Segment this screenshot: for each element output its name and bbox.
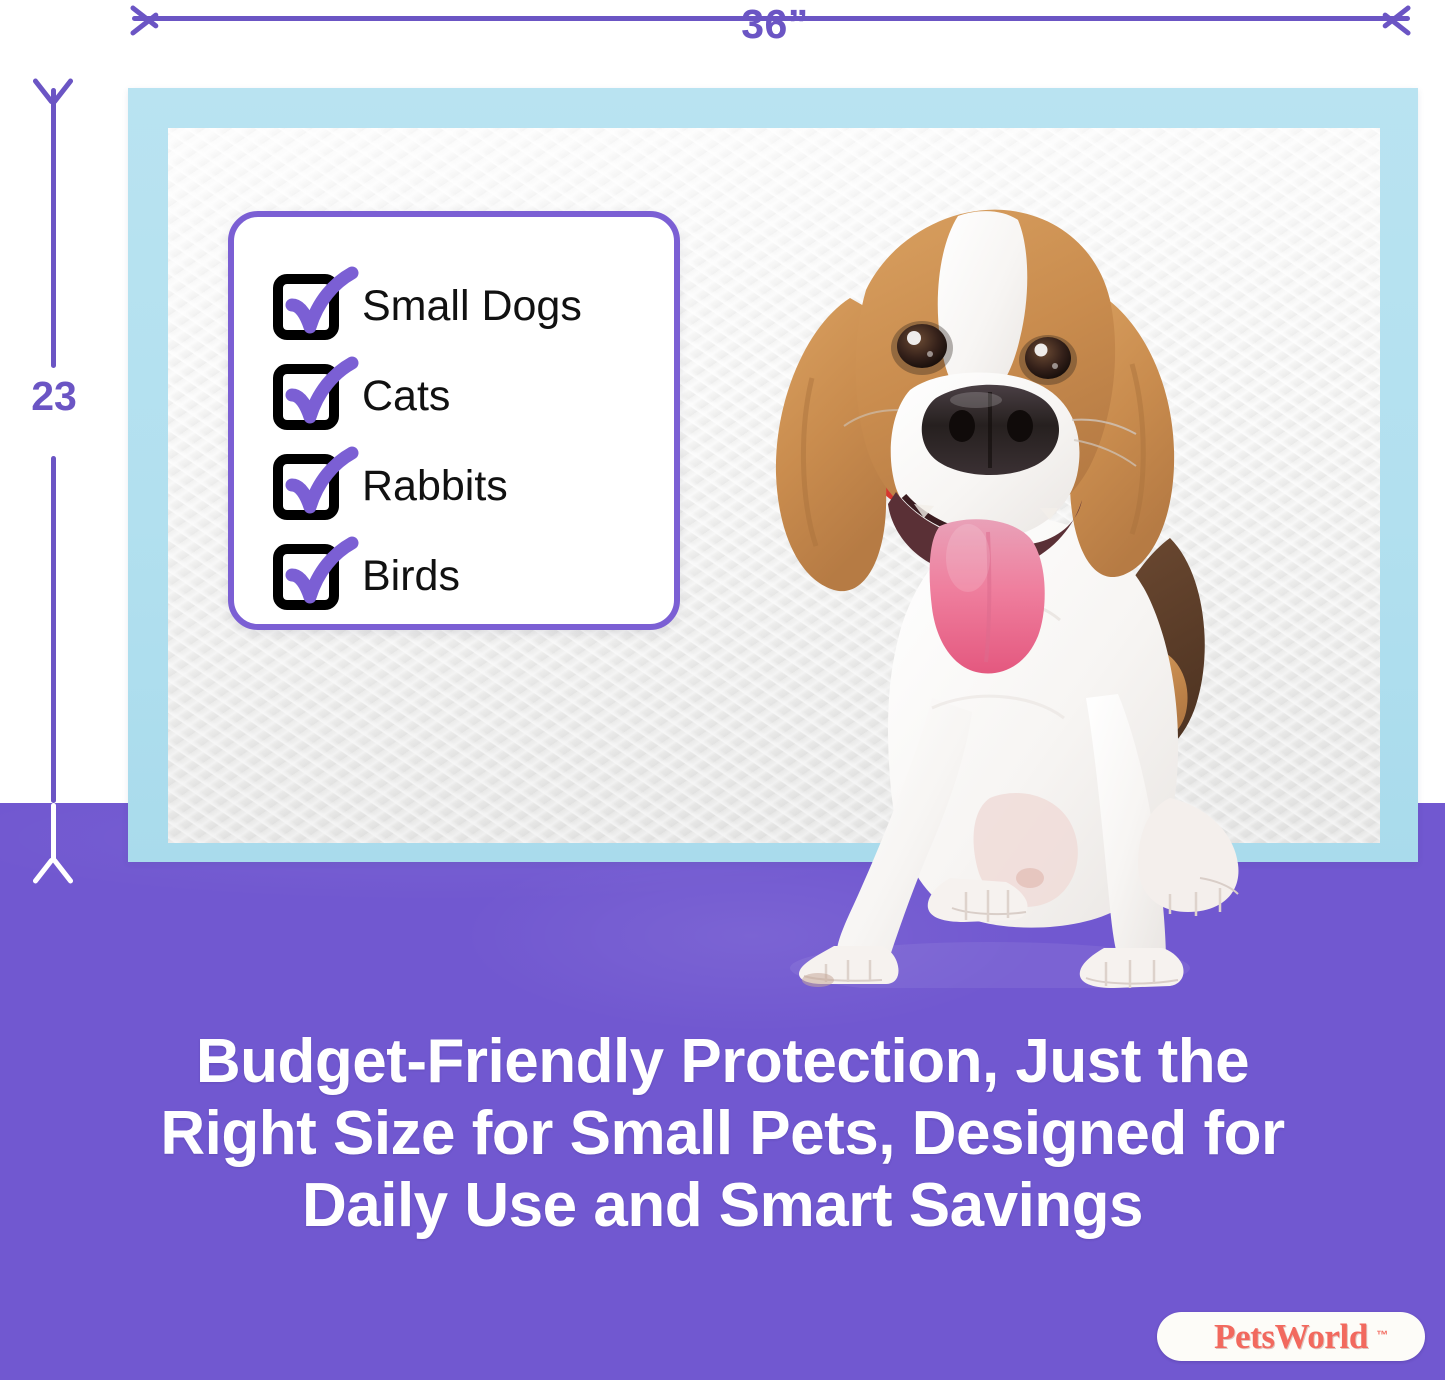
brand-logo: PetsWorld ™ xyxy=(1157,1312,1425,1361)
trademark-symbol: ™ xyxy=(1376,1317,1388,1353)
checklist-item-label: Small Dogs xyxy=(362,282,582,330)
brand-name: PetsWorld ™ xyxy=(1214,1319,1368,1355)
checklist-item-label: Birds xyxy=(362,552,460,600)
checklist-item[interactable]: Small Dogs xyxy=(276,261,674,351)
height-label: 23 xyxy=(6,372,102,420)
checklist-item-label: Cats xyxy=(362,372,450,420)
checked-checkbox-icon xyxy=(276,367,334,425)
checked-checkbox-icon xyxy=(276,277,334,335)
headline-line-1: Budget-Friendly Protection, Just the xyxy=(60,1026,1385,1098)
checklist-item[interactable]: Rabbits xyxy=(276,441,674,531)
suitable-pets-checklist: Small Dogs Cats Rabbits xyxy=(228,211,680,630)
brand-name-text: PetsWorld xyxy=(1214,1317,1368,1356)
beagle-dog-photo xyxy=(700,178,1260,988)
checklist-item-label: Rabbits xyxy=(362,462,508,510)
checked-checkbox-icon xyxy=(276,457,334,515)
checklist-item[interactable]: Birds xyxy=(276,531,674,621)
checklist-item[interactable]: Cats xyxy=(276,351,674,441)
headline-line-2: Right Size for Small Pets, Designed for xyxy=(60,1098,1385,1170)
product-image-canvas: 36” 23 Small Dogs xyxy=(0,0,1445,1380)
checked-checkbox-icon xyxy=(276,547,334,605)
width-label: 36” xyxy=(690,0,860,48)
marketing-headline: Budget-Friendly Protection, Just the Rig… xyxy=(60,1026,1385,1242)
headline-line-3: Daily Use and Smart Savings xyxy=(60,1170,1385,1242)
